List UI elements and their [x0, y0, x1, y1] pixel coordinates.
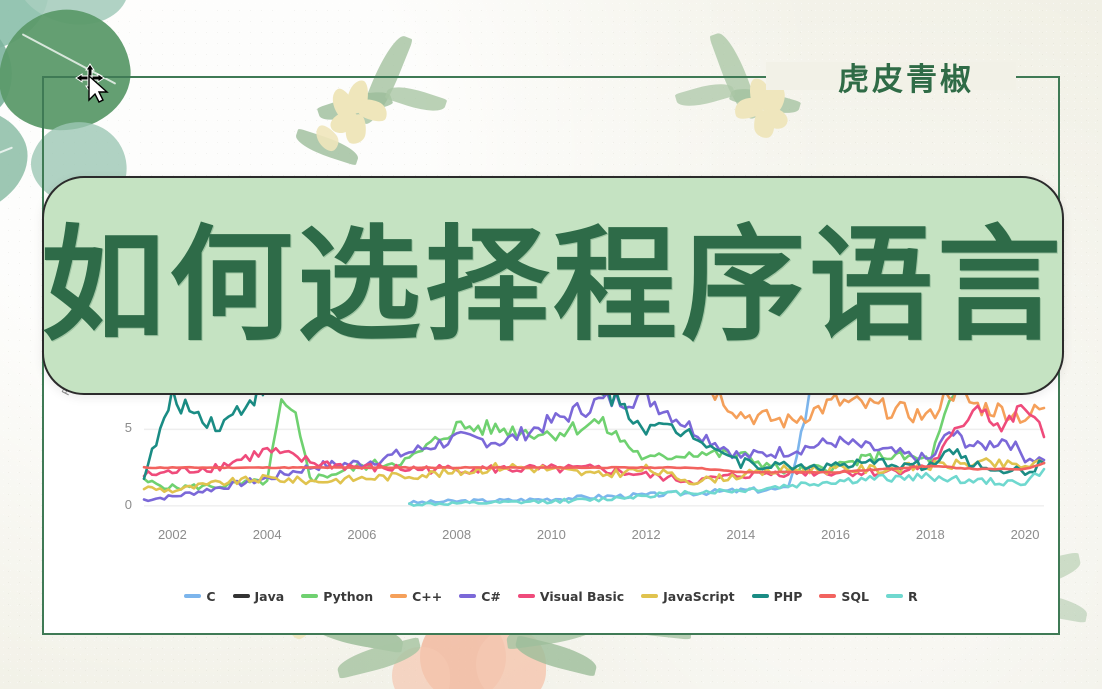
- x-tick-label: 2008: [427, 527, 487, 542]
- legend-label: R: [908, 589, 918, 604]
- legend-item-php[interactable]: PHP: [752, 589, 803, 604]
- legend-swatch-icon: [459, 594, 476, 598]
- x-tick-label: 2020: [995, 527, 1055, 542]
- chart-legend: CJavaPythonC++C#Visual BasicJavaScriptPH…: [44, 583, 1058, 609]
- legend-swatch-icon: [518, 594, 535, 598]
- x-tick-label: 2002: [142, 527, 202, 542]
- x-tick-label: 2016: [806, 527, 866, 542]
- x-tick-label: 2010: [521, 527, 581, 542]
- legend-swatch-icon: [233, 594, 250, 598]
- x-tick-label: 2014: [711, 527, 771, 542]
- legend-label: PHP: [774, 589, 803, 604]
- legend-label: Java: [255, 589, 285, 604]
- x-tick-label: 2004: [237, 527, 297, 542]
- legend-swatch-icon: [390, 594, 407, 598]
- legend-swatch-icon: [184, 594, 201, 598]
- legend-item-c-[interactable]: C++: [390, 589, 442, 604]
- video-thumbnail: 虎皮青椒 Ratings 0510 2002200420062008201020…: [0, 0, 1102, 689]
- legend-label: Visual Basic: [540, 589, 624, 604]
- move-cursor: [74, 62, 116, 104]
- legend-swatch-icon: [641, 594, 658, 598]
- y-tick-label: 5: [102, 420, 132, 435]
- legend-item-java[interactable]: Java: [233, 589, 285, 604]
- legend-item-python[interactable]: Python: [301, 589, 373, 604]
- legend-item-javascript[interactable]: JavaScript: [641, 589, 734, 604]
- legend-item-sql[interactable]: SQL: [819, 589, 869, 604]
- legend-swatch-icon: [819, 594, 836, 598]
- channel-brand-name: 虎皮青椒: [806, 52, 1006, 100]
- legend-label: C++: [412, 589, 442, 604]
- x-tick-label: 2006: [332, 527, 392, 542]
- x-tick-label: 2018: [900, 527, 960, 542]
- legend-item-visual-basic[interactable]: Visual Basic: [518, 589, 624, 604]
- page-title: 如何选择程序语言: [41, 224, 1065, 348]
- legend-item-c-[interactable]: C#: [459, 589, 501, 604]
- legend-label: Python: [323, 589, 373, 604]
- legend-label: SQL: [841, 589, 869, 604]
- legend-swatch-icon: [886, 594, 903, 598]
- legend-item-c[interactable]: C: [184, 589, 215, 604]
- legend-item-r[interactable]: R: [886, 589, 918, 604]
- title-banner: 如何选择程序语言: [42, 176, 1064, 395]
- chart-line-c-: [144, 388, 1044, 501]
- x-tick-label: 2012: [616, 527, 676, 542]
- legend-label: C#: [481, 589, 501, 604]
- legend-swatch-icon: [301, 594, 318, 598]
- y-tick-label: 0: [102, 497, 132, 512]
- legend-label: C: [206, 589, 215, 604]
- legend-swatch-icon: [752, 594, 769, 598]
- legend-label: JavaScript: [663, 589, 734, 604]
